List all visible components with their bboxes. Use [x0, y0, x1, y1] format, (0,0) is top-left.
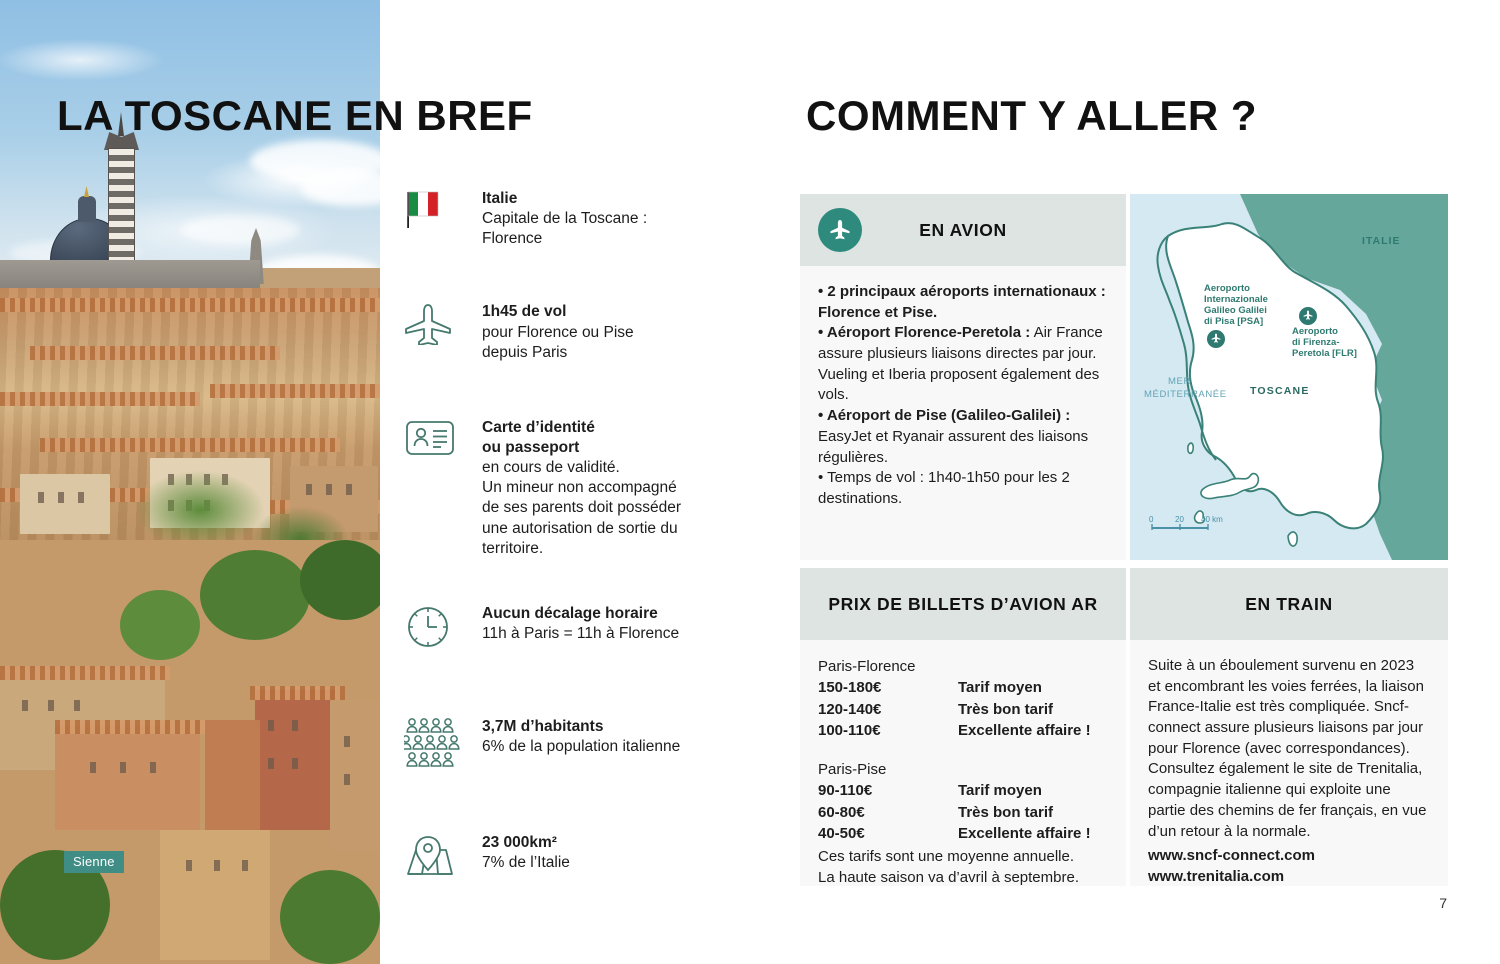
- island-gorgona: [1188, 443, 1193, 453]
- price-value: 60-80€: [818, 802, 958, 823]
- price-label: Tarif moyen: [958, 780, 1108, 801]
- panel-body: • 2 principaux aéroports internationaux …: [800, 266, 1126, 524]
- price-table-florence: 150-180€ Tarif moyen 120-140€ Très bon t…: [818, 677, 1108, 741]
- scale-label-0: 0: [1149, 515, 1154, 524]
- airport-marker-firenze: [1299, 307, 1317, 325]
- avion-bullet: • Aéroport de Pise (Galileo-Galilei) : E…: [818, 406, 1108, 468]
- map-pin-icon: [404, 830, 482, 880]
- train-links: www.sncf-connect.com www.trenitalia.com: [1148, 846, 1430, 887]
- campanile: [108, 148, 135, 278]
- train-body-text: Suite à un éboulement survenu en 2023 et…: [1148, 656, 1430, 842]
- map-label-flr-3: Peretola [FLR]: [1292, 348, 1357, 359]
- bullet-rest: • Temps de vol : 1h40-1h50 pour les 2 de…: [818, 469, 1070, 507]
- fact-line: 7% de l’Italie: [482, 853, 570, 873]
- route-label: Paris-Pise: [818, 759, 1108, 780]
- airplane-icon: [404, 299, 482, 345]
- page-title-left: LA TOSCANE EN BREF: [57, 92, 533, 140]
- fact-line: 6% de la population italienne: [482, 737, 680, 757]
- fact-item: 3,7M d’habitants 6% de la population ita…: [404, 714, 734, 768]
- fact-title: 3,7M d’habitants: [482, 718, 603, 735]
- fact-line: pour Florence ou Pise: [482, 323, 634, 343]
- fact-line: en cours de validité.: [482, 458, 681, 478]
- avion-bullet: • Aéroport Florence-Peretola : Air Franc…: [818, 323, 1108, 406]
- panel-en-train: EN TRAIN Suite à un éboulement survenu e…: [1130, 568, 1448, 886]
- price-label: Très bon tarif: [958, 699, 1108, 720]
- fact-item: 1h45 de vol pour Florence ou Pise depuis…: [404, 299, 734, 362]
- avion-bullet: • Temps de vol : 1h40-1h50 pour les 2 de…: [818, 468, 1108, 509]
- airplane-circle-icon: [818, 208, 862, 252]
- lower-village: [0, 540, 380, 964]
- fact-title: 1h45 de vol: [482, 303, 566, 320]
- fact-line: Un mineur non accompagné: [482, 478, 681, 498]
- map-label-sea-2: MÉDITERRANÉE: [1144, 389, 1227, 400]
- photo-caption: Sienne: [64, 851, 124, 873]
- fact-title: Aucun décalage horaire: [482, 605, 658, 622]
- fact-line: de ses parents doit posséder: [482, 498, 681, 518]
- fact-line: depuis Paris: [482, 343, 634, 363]
- panel-body: Paris-Florence 150-180€ Tarif moyen 120-…: [800, 640, 1126, 902]
- fact-title-2: ou passeport: [482, 439, 579, 456]
- panel-header: EN TRAIN: [1130, 568, 1448, 640]
- bullet-rest: EasyJet et Ryanair assurent des liaisons…: [818, 428, 1088, 466]
- fact-line: 11h à Paris = 11h à Florence: [482, 624, 679, 644]
- map-label-flr-1: Aeroporto: [1292, 326, 1338, 337]
- price-value: 40-50€: [818, 823, 958, 844]
- price-value: 120-140€: [818, 699, 958, 720]
- panel-body: Suite à un éboulement survenu en 2023 et…: [1130, 640, 1448, 902]
- fact-line: territoire.: [482, 539, 681, 559]
- map-label-flr-2: di Firenza-: [1292, 337, 1340, 348]
- map-label-pisa-2: Internazionale: [1204, 294, 1268, 305]
- toscane-map-svg: ITALIE TOSCANE MER MÉDITERRANÉE Aeroport…: [1130, 194, 1448, 560]
- page-title-right: COMMENT Y ALLER ?: [806, 92, 1257, 140]
- airport-marker-pisa: [1207, 330, 1225, 348]
- panel-header: EN AVION: [800, 194, 1126, 266]
- panel-header: PRIX DE BILLETS D’AVION AR: [800, 568, 1126, 640]
- map-label-toscane: TOSCANE: [1250, 385, 1310, 397]
- avion-bullet: • 2 principaux aéroports internationaux …: [818, 282, 1108, 323]
- fact-item: Aucun décalage horaire 11h à Paris = 11h…: [404, 601, 734, 651]
- fact-item: Italie Capitale de la Toscane : Florence: [404, 186, 734, 249]
- fact-line: Florence: [482, 229, 647, 249]
- people-group-icon: [404, 714, 482, 768]
- price-value: 100-110€: [818, 720, 958, 741]
- map-label-sea-1: MER: [1168, 376, 1191, 387]
- fact-title: 23 000km²: [482, 834, 557, 851]
- scale-label-20: 20: [1175, 515, 1184, 524]
- bullet-bold: • Aéroport Florence-Peretola :: [818, 324, 1030, 341]
- route-label: Paris-Florence: [818, 656, 1108, 677]
- bullet-bold: • Aéroport de Pise (Galileo-Galilei) :: [818, 407, 1070, 424]
- price-note-line-1: Ces tarifs sont une moyenne annuelle.: [818, 846, 1108, 867]
- price-note-line-2: La haute saison va d’avril à septembre.: [818, 867, 1108, 888]
- fact-title: Italie: [482, 190, 517, 207]
- map-label-pisa-3: Galileo Galilei: [1204, 305, 1267, 316]
- price-label: Excellente affaire !: [958, 720, 1108, 741]
- panel-prix-billets: PRIX DE BILLETS D’AVION AR Paris-Florenc…: [800, 568, 1126, 886]
- price-label: Tarif moyen: [958, 677, 1108, 698]
- panel-title: EN TRAIN: [1245, 594, 1332, 615]
- fact-item: Carte d’identité ou passeport en cours d…: [404, 415, 734, 559]
- duomo-lantern: [78, 196, 96, 222]
- page-number: 7: [1439, 895, 1447, 911]
- price-table-pise: 90-110€ Tarif moyen 60-80€ Très bon tari…: [818, 780, 1108, 844]
- spacer: [818, 741, 1108, 759]
- scale-label-40: 40 km: [1201, 515, 1223, 524]
- panel-title: EN AVION: [919, 220, 1006, 241]
- island-giglio: [1288, 532, 1297, 546]
- price-label: Très bon tarif: [958, 802, 1108, 823]
- fact-line: Capitale de la Toscane :: [482, 209, 647, 229]
- fact-item: 23 000km² 7% de l’Italie: [404, 830, 734, 880]
- map-label-italie: ITALIE: [1362, 235, 1400, 247]
- clock-icon: [404, 601, 482, 651]
- link-trenitalia[interactable]: www.trenitalia.com: [1148, 867, 1430, 888]
- price-value: 150-180€: [818, 677, 958, 698]
- id-card-icon: [404, 415, 482, 459]
- panel-en-avion: EN AVION • 2 principaux aéroports intern…: [800, 194, 1126, 560]
- facts-list: Italie Capitale de la Toscane : Florence…: [404, 186, 734, 880]
- map-label-pisa-4: di Pisa [PSA]: [1204, 316, 1263, 327]
- fact-line: une autorisation de sortie du: [482, 519, 681, 539]
- italy-flag-icon: [404, 186, 482, 230]
- link-sncf-connect[interactable]: www.sncf-connect.com: [1148, 846, 1430, 867]
- price-label: Excellente affaire !: [958, 823, 1108, 844]
- panel-title: PRIX DE BILLETS D’AVION AR: [828, 594, 1097, 615]
- bullet-bold: • 2 principaux aéroports internationaux …: [818, 283, 1106, 321]
- fact-title: Carte d’identité: [482, 419, 595, 436]
- map-label-pisa-1: Aeroporto: [1204, 283, 1250, 294]
- panel-map-toscane: ITALIE TOSCANE MER MÉDITERRANÉE Aeroport…: [1130, 194, 1448, 560]
- siena-photo: Sienne: [0, 0, 380, 964]
- price-value: 90-110€: [818, 780, 958, 801]
